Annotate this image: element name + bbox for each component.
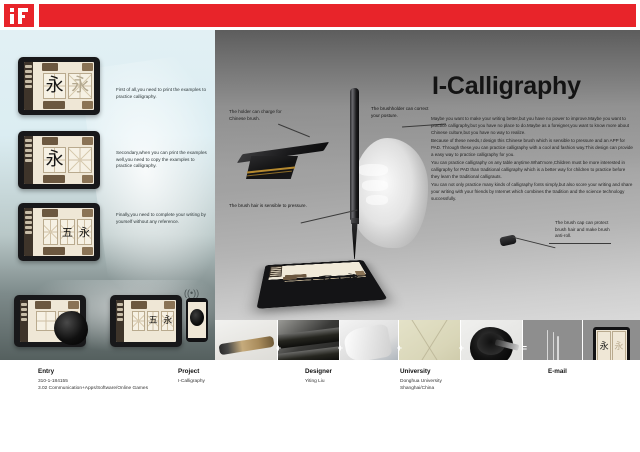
material-chinese-brush: Chinese Brush + (215, 320, 278, 360)
footer-email: E-mail (548, 368, 567, 378)
leader-line (549, 243, 611, 244)
tablet-bottombar (43, 246, 93, 255)
tablet-topbar (35, 301, 79, 310)
character-model: 永 (44, 148, 66, 172)
tablet-topbar (42, 209, 93, 218)
footer: Entry 310-1-184155 3.02 Communication+Ap… (0, 360, 640, 452)
description-paragraph-4: You can not only practice many kinds of … (431, 182, 634, 202)
plus-operator: + (397, 344, 402, 353)
if-logo-icon (4, 4, 34, 27)
tablet-copy: 永 (18, 131, 100, 189)
grid-cell-blank (132, 311, 145, 331)
pad-character-trace: 永 (612, 331, 626, 360)
banner-bar (39, 4, 636, 27)
tablet-ink-phone-pad: 五 永 (110, 295, 182, 347)
description-block: Maybe you want to make your writing bett… (431, 116, 634, 204)
caption-step-1: First of all,you need to print the examp… (116, 87, 212, 100)
brush-charging-holder (238, 148, 322, 182)
description-paragraph-3: You can practice calligraphy on any tabl… (431, 160, 634, 180)
tablet-topbar (42, 137, 93, 146)
materials-strip: Chinese Brush + Paperweight + Hair Felt … (215, 320, 640, 360)
tablet-bottombar (43, 174, 93, 183)
footer-project: Project I-Calligraphy (178, 368, 205, 385)
grid-cell-model: 永 (43, 73, 67, 99)
footer-university: University Donghua University Shanghai/C… (400, 368, 442, 392)
top-banner (0, 0, 640, 30)
character-1: 五 (61, 220, 74, 244)
equals-operator: = (522, 344, 527, 353)
grid-cell-blank (285, 279, 312, 281)
caption-step-3: Finally,you need to complete your writin… (116, 212, 212, 225)
wifi-icon: ((•)) (184, 288, 199, 298)
grid-cell-blank (43, 219, 58, 245)
footer-designer: Designer Yiting Liu (305, 368, 332, 385)
grid-cell-char-1: 五 (313, 278, 339, 280)
footer-designer-value: Yiting Liu (305, 378, 332, 385)
footer-entry-category: 3.02 Communication+Apps/Software/Online … (38, 385, 148, 392)
footer-entry-number: 310-1-184155 (38, 378, 148, 385)
tablet-bottombar (43, 100, 93, 109)
character-model: 永 (44, 74, 66, 98)
character-2: 永 (78, 220, 91, 244)
smartphone-device (186, 298, 208, 342)
note-posture: The brushholder can correct your posture… (371, 106, 437, 119)
note-brush-cap: The brush cap can protect brush hair and… (555, 220, 615, 240)
grid-cell-char-2: 永 (77, 219, 92, 245)
tablet-toolbar-left (24, 208, 33, 256)
plus-operator: + (459, 344, 464, 353)
footer-university-value: Donghua University Shanghai/China (400, 378, 442, 392)
hand-illustration (352, 138, 428, 248)
tablet-toolbar-left (20, 300, 28, 342)
caption-step-2: Secondary,when you can print the example… (116, 150, 212, 170)
footer-heading: Project (178, 368, 205, 375)
character-empty (69, 148, 91, 172)
material-pressure-sensitive-brush: Pressure Sensitive Brush (523, 320, 583, 360)
footer-project-value: I-Calligraphy (178, 378, 205, 385)
ink-drop-icon (54, 311, 88, 345)
footer-heading: Designer (305, 368, 332, 375)
material-ink-stone: Ink-Stone = (461, 320, 523, 360)
plus-operator: + (338, 344, 343, 353)
character-1: 五 (148, 312, 159, 330)
tablet-ink-pad (14, 295, 86, 347)
ink-drop-icon (190, 309, 204, 326)
pressure-sensitive-brush (350, 88, 359, 258)
tablet-print: 永 永 (18, 57, 100, 115)
character-trace: 永 (69, 74, 91, 98)
poster-root: 永 永 (0, 0, 640, 452)
tablet-toolbar-left (24, 136, 33, 184)
tablet-toolbar-left (24, 62, 33, 110)
character-2: 永 (162, 312, 173, 330)
material-paperweight: Paperweight + (278, 320, 340, 360)
footer-heading: E-mail (548, 368, 567, 375)
artwork-area: 永 永 (0, 30, 640, 360)
material-pad-app: 永 永 PAD(APP) (583, 320, 640, 360)
footer-heading: Entry (38, 368, 148, 375)
tablet-toolbar-left (116, 300, 124, 342)
footer-entry: Entry 310-1-184155 3.02 Communication+Ap… (38, 368, 148, 392)
page-title: I-Calligraphy (432, 72, 581, 101)
tablet-topbar (131, 301, 175, 310)
grid-cell-char-1: 五 (147, 311, 160, 331)
description-paragraph-1: Maybe you want to make your writing bett… (431, 116, 634, 136)
grid-cell-char-2: 永 (340, 276, 366, 278)
material-hair-felt: Hair Felt + (340, 320, 399, 360)
note-holder-charge: The holder can charge for Chinese brush. (229, 109, 291, 122)
grid-cell-model: 永 (43, 147, 67, 173)
character-2: 永 (341, 277, 365, 278)
grid-cell-char-1: 五 (60, 219, 75, 245)
description-paragraph-2: Because of these needs,I design this Chi… (431, 138, 634, 158)
grid-cell-trace: 永 (68, 73, 92, 99)
grid-cell-char-2: 永 (161, 311, 174, 331)
plus-operator: + (276, 344, 281, 353)
grid-cell-empty (68, 147, 92, 173)
character-1: 五 (314, 278, 338, 279)
note-brush-hair: The brush hair is sensible to pressure. (229, 203, 337, 210)
tablet-topbar (42, 63, 93, 72)
material-bamboo-paper: Bamboo Paper + (399, 320, 461, 360)
footer-heading: University (400, 368, 442, 375)
pad-character-model: 永 (597, 331, 611, 360)
tablet-free-writing: 五 永 (18, 203, 100, 261)
